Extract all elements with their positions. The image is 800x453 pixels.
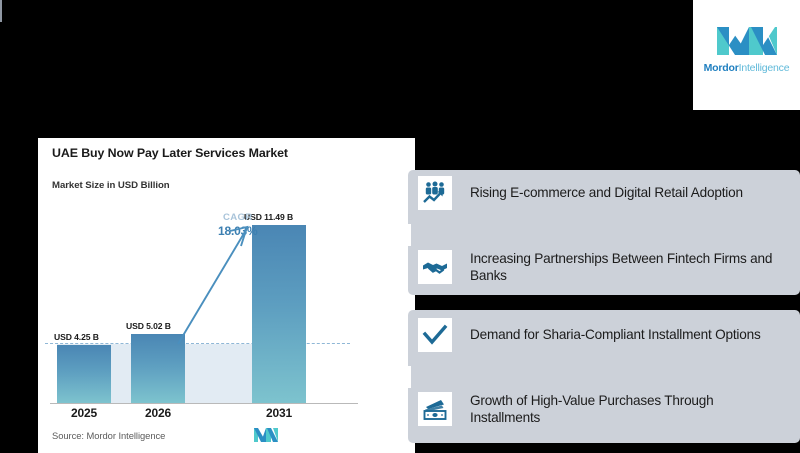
panel-two-notch	[406, 366, 411, 388]
driver-item-sharia[interactable]: Demand for Sharia-Compliant Installment …	[418, 318, 788, 352]
driver-item-partnerships[interactable]: Increasing Partnerships Between Fintech …	[418, 250, 788, 285]
panel-two-notch-edge	[0, 0, 2, 22]
cagr-value: 18.03%	[218, 224, 258, 238]
chart-x-axis	[50, 403, 358, 404]
driver-label-high-value: Growth of High-Value Purchases Through I…	[470, 392, 780, 427]
driver-item-ecommerce[interactable]: Rising E-commerce and Digital Retail Ado…	[418, 176, 788, 210]
banknotes-icon	[418, 392, 452, 426]
bar-2025-shape	[57, 345, 111, 403]
slide-root: MordorIntelligence UAE Buy Now Pay Later…	[0, 0, 800, 453]
brand-name-bold: Mordor	[704, 62, 739, 74]
panel-one-notch	[406, 224, 411, 246]
people-growth-chart-icon	[418, 176, 452, 210]
mordor-intelligence-logo-icon	[715, 17, 779, 57]
bar-chart-plot: USD 4.25 B USD 5.02 B USD 11.49 B CAGR 1…	[38, 138, 415, 453]
driver-label-partnerships: Increasing Partnerships Between Fintech …	[470, 250, 780, 285]
bar-2025[interactable]	[57, 345, 111, 403]
bar-2026-shape	[131, 334, 185, 403]
driver-label-sharia: Demand for Sharia-Compliant Installment …	[470, 326, 761, 343]
brand-wordmark: MordorIntelligence	[704, 62, 790, 74]
bar-label-2026: USD 5.02 B	[126, 321, 171, 331]
bar-label-2025: USD 4.25 B	[54, 332, 99, 342]
x-tick-2031: 2031	[252, 406, 306, 420]
driver-item-high-value[interactable]: Growth of High-Value Purchases Through I…	[418, 392, 788, 427]
x-tick-2025: 2025	[57, 406, 111, 420]
checkmark-icon	[418, 318, 452, 352]
cagr-label: CAGR	[223, 212, 252, 223]
bar-2031-shape	[252, 225, 306, 403]
brand-logo-box: MordorIntelligence	[693, 0, 800, 110]
bar-2031[interactable]	[252, 225, 306, 403]
handshake-icon	[418, 250, 452, 284]
chart-card: UAE Buy Now Pay Later Services Market Ma…	[38, 138, 415, 453]
brand-name-light: Intelligence	[739, 62, 790, 74]
x-tick-2026: 2026	[131, 406, 185, 420]
mordor-intelligence-mini-logo-icon	[253, 426, 279, 443]
chart-source: Source: Mordor Intelligence	[52, 430, 165, 441]
bar-2026[interactable]	[131, 334, 185, 403]
driver-label-ecommerce: Rising E-commerce and Digital Retail Ado…	[470, 184, 743, 201]
